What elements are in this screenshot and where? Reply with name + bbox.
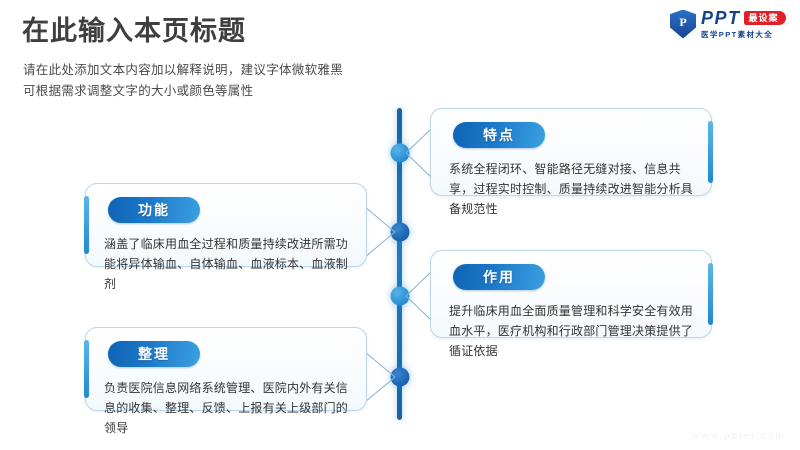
subtitle-line-1: 请在此处添加文本内容加以解释说明，建议字体微软雅黑 [23, 60, 343, 81]
card-body-zhengli: 负责医院信息网络系统管理、医院内外有关信息的收集、整理、反馈、上报有关上级部门的… [104, 378, 350, 438]
card-body-gongneng: 涵盖了临床用血全过程和质量持续改进所需功能将异体输血、自体输血、血液标本、血液制… [104, 234, 350, 294]
card-zuoyong[interactable]: 作用 提升临床用血全面质量管理和科学安全有效用血水平，医疗机构和行政部门管理决策… [430, 250, 712, 338]
card-accent-bar [84, 196, 89, 254]
card-body-tedian: 系统全程闭环、智能路径无缝对接、信息共享，过程实时控制、质量持续改进智能分析具备… [449, 159, 695, 219]
brand-logo: PPT 最设案 医学PPT素材大全 [670, 7, 792, 41]
logo-tagline: 医学PPT素材大全 [701, 29, 786, 40]
site-watermark: www.ppter.com [692, 431, 786, 442]
card-label-gongneng: 功能 [108, 197, 200, 223]
card-label-zhengli: 整理 [108, 341, 200, 367]
card-body-zuoyong: 提升临床用血全面质量管理和科学安全有效用血水平，医疗机构和行政部门管理决策提供了… [449, 301, 695, 361]
page-title: 在此输入本页标题 [22, 14, 246, 48]
logo-primary-row: PPT 最设案 [701, 9, 786, 28]
card-zhengli[interactable]: 整理 负责医院信息网络系统管理、医院内外有关信息的收集、整理、反馈、上报有关上级… [85, 327, 367, 411]
card-label-tedian: 特点 [453, 122, 545, 148]
subtitle-line-2: 可根据需求调整文字的大小或颜色等属性 [23, 81, 343, 102]
card-tedian[interactable]: 特点 系统全程闭环、智能路径无缝对接、信息共享，过程实时控制、质量持续改进智能分… [430, 108, 712, 196]
logo-brand-name: PPT [701, 9, 741, 28]
card-accent-bar [708, 263, 713, 325]
shield-icon [670, 10, 696, 39]
page-subtitle: 请在此处添加文本内容加以解释说明，建议字体微软雅黑 可根据需求调整文字的大小或颜… [23, 60, 343, 102]
card-gongneng[interactable]: 功能 涵盖了临床用血全过程和质量持续改进所需功能将异体输血、自体输血、血液标本、… [85, 183, 367, 267]
card-label-zuoyong: 作用 [453, 264, 545, 290]
logo-text: PPT 最设案 医学PPT素材大全 [701, 9, 786, 40]
card-accent-bar [84, 340, 89, 398]
card-accent-bar [708, 121, 713, 183]
logo-badge: 最设案 [744, 11, 786, 25]
